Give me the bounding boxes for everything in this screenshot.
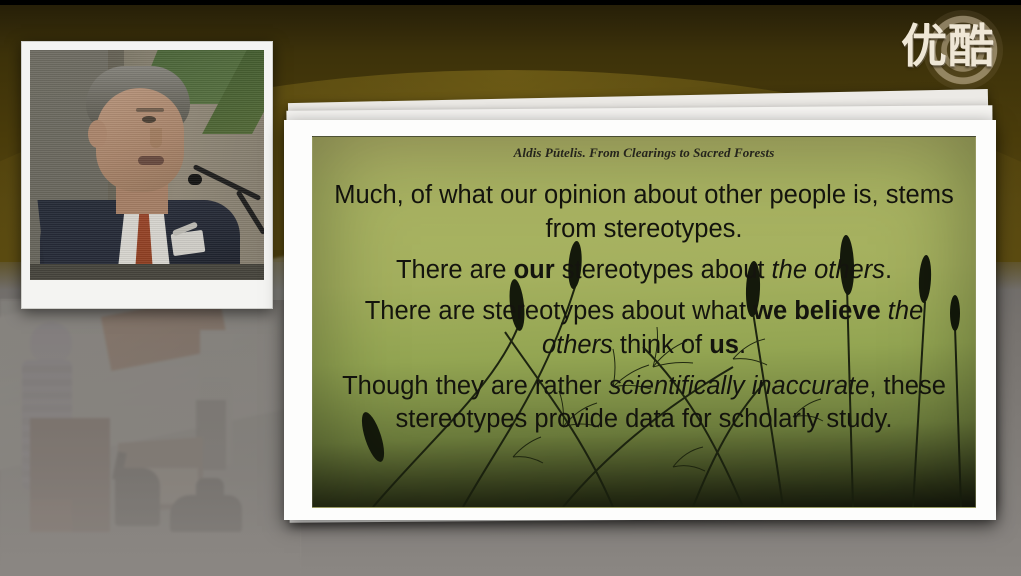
slide-text-segment: Though they are rather [342,372,609,400]
slide-line-2: There are our stereotypes about the othe… [327,254,961,288]
slide-body-text: Much, of what our opinion about other pe… [327,179,961,444]
slide-text-segment [881,297,888,325]
letterbox-top-bar [0,0,1021,5]
slide-frame[interactable]: Aldis Pūtelis. From Clearings to Sacred … [284,120,996,520]
slide-text-segment: Much, of what our opinion about other pe… [334,181,953,243]
speaker-video-image [30,50,264,280]
slide-line-3: There are stereotypes about what we beli… [327,295,961,363]
slide-header: Aldis Pūtelis. From Clearings to Sacred … [313,145,975,161]
slide-text-segment: us [709,331,739,359]
slide-text-segment: think of [613,331,709,359]
speaker-video-inset[interactable] [21,41,273,309]
presentation-slide: Aldis Pūtelis. From Clearings to Sacred … [312,136,976,508]
slide-line-4: Though they are rather scientifically in… [327,370,961,438]
slide-text-segment: scientifically inaccurate [609,372,870,400]
video-tint [30,50,264,280]
slide-text-segment: There are stereotypes about what [365,297,753,325]
youku-watermark: 优酷 [871,12,1003,88]
watermark-label: 优酷 [901,18,995,74]
video-player-frame: 优酷 [0,0,1021,576]
slide-text-segment: stereotypes about [555,256,772,284]
slide-line-1: Much, of what our opinion about other pe… [327,179,961,247]
slide-text-segment: the others [772,256,885,284]
slide-text-segment: . [885,256,892,284]
slide-text-segment: . [739,331,746,359]
slide-text-segment: our [514,256,555,284]
background-photo-veil [0,300,300,576]
slide-text-segment: we believe [753,297,881,325]
slide-text-segment: There are [396,256,514,284]
